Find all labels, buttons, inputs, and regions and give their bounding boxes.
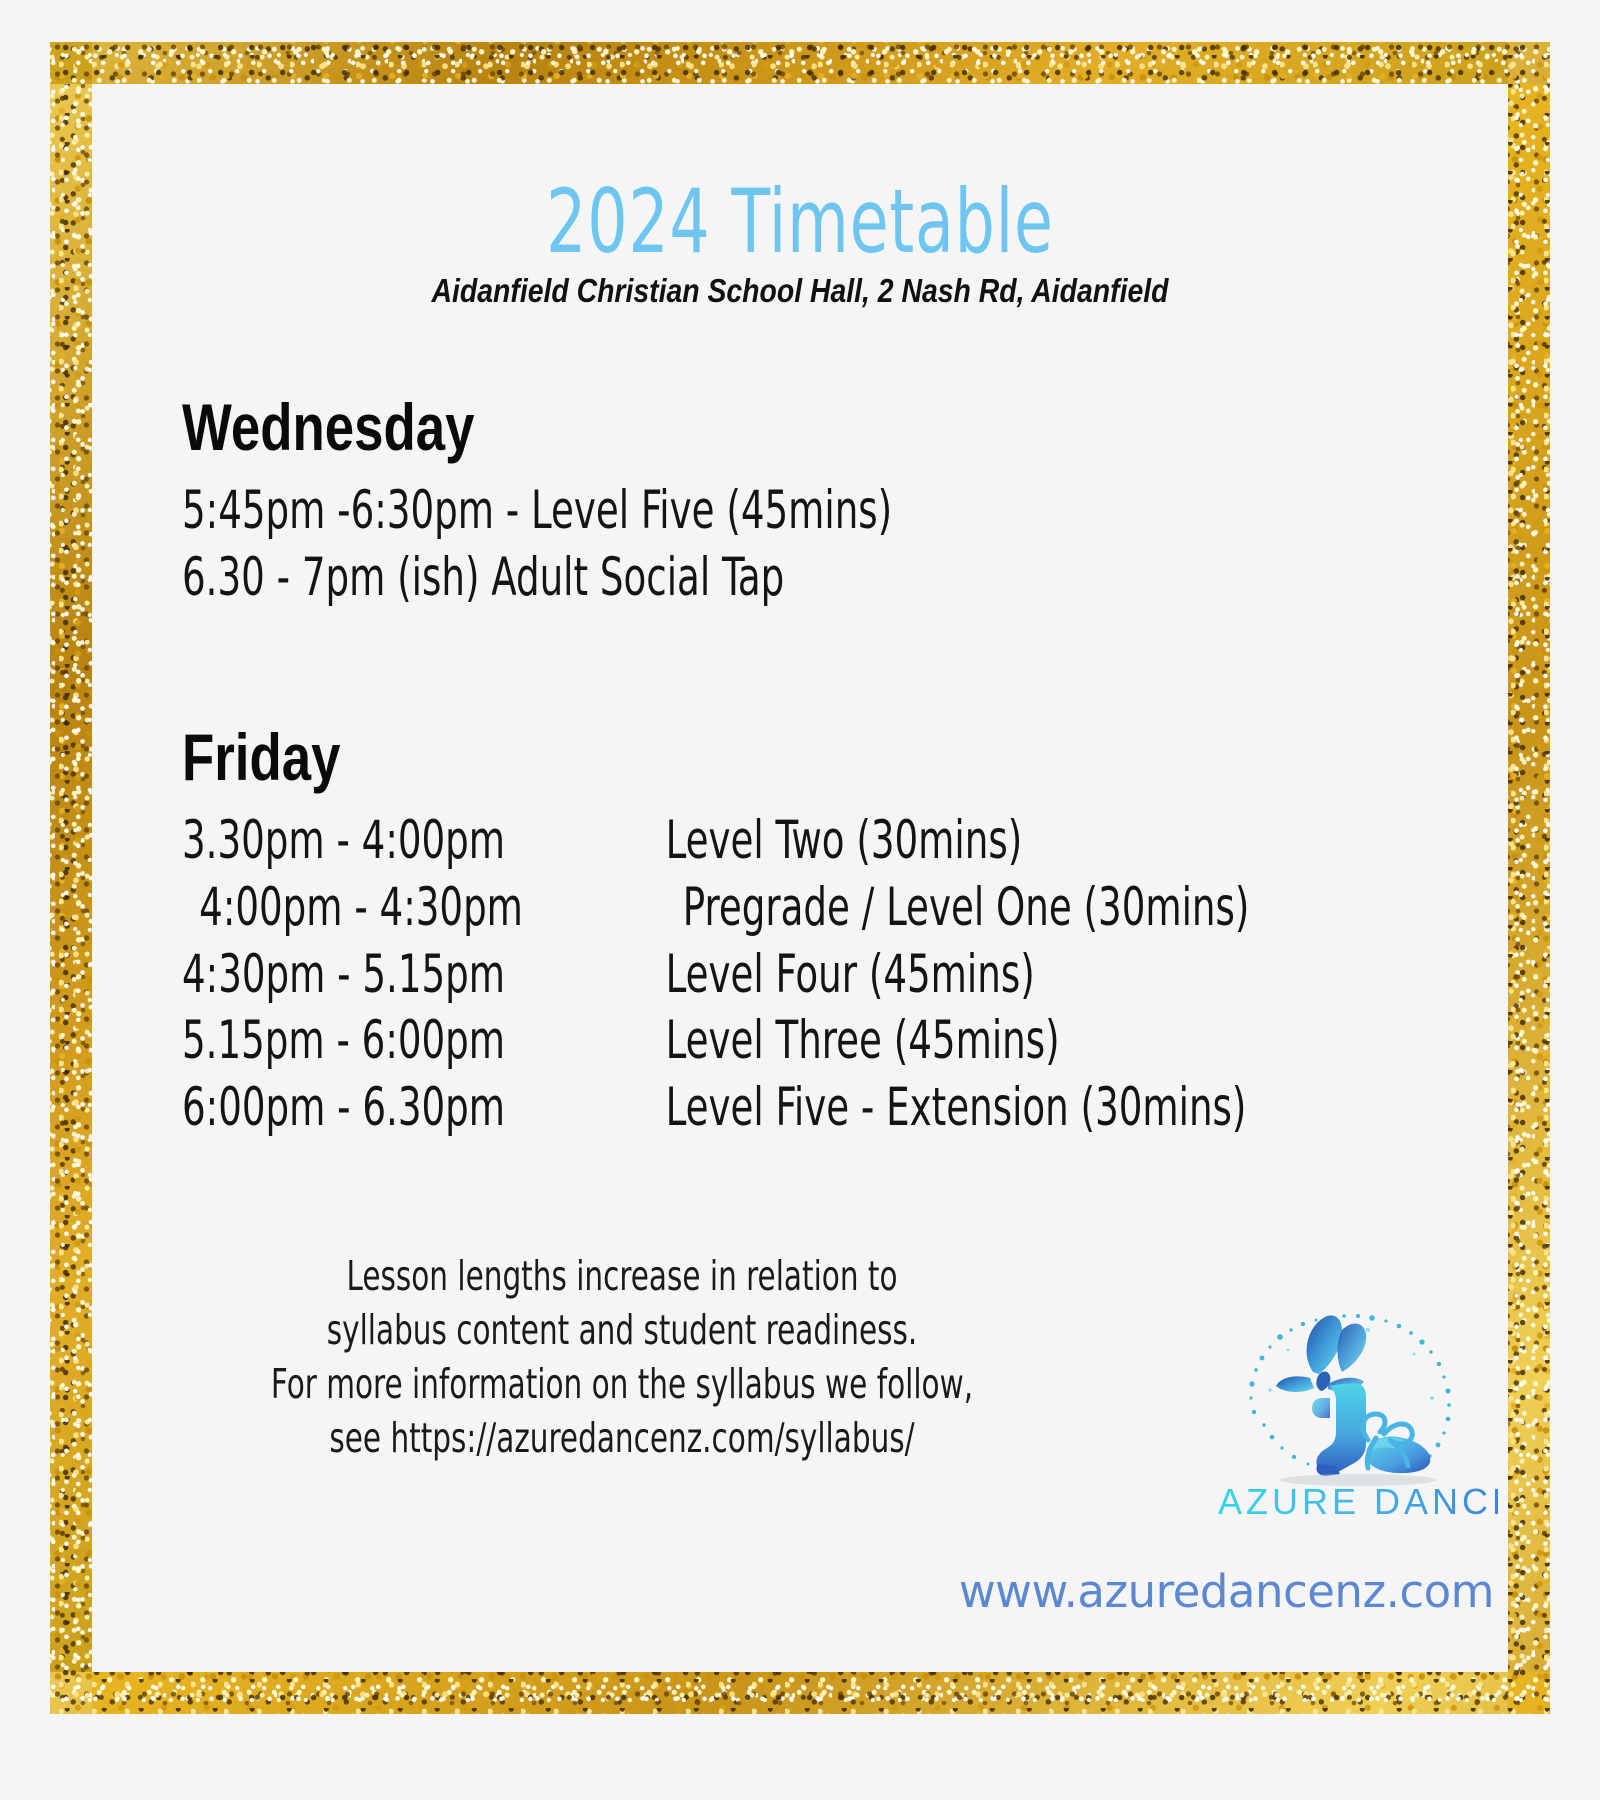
schedule-class: Level Four (45mins): [666, 944, 1035, 1005]
schedule-row: 6:00pm - 6.30pmLevel Five - Extension (3…: [182, 1075, 1196, 1142]
schedule-time: 5.15pm - 6:00pm: [182, 1008, 666, 1075]
schedule-class: Level Five - Extension (30mins): [666, 1077, 1247, 1138]
azure-dance-logo: AZURE DANCE: [1218, 1294, 1498, 1544]
schedule-row: 6.30 - 7pm (ish) Adult Social Tap: [182, 545, 1196, 612]
website-url[interactable]: www.azuredancenz.com: [959, 1569, 1494, 1614]
day-block-friday: Friday 3.30pm - 4:00pmLevel Two (30mins)…: [182, 724, 1482, 1142]
poster-content: 2024 Timetable Aidanfield Christian Scho…: [92, 84, 1508, 1672]
schedule-row: 3.30pm - 4:00pmLevel Two (30mins): [182, 808, 1196, 875]
timetable-poster: 2024 Timetable Aidanfield Christian Scho…: [0, 0, 1600, 1800]
day-heading-friday: Friday: [182, 724, 1222, 790]
schedule-row: 5.15pm - 6:00pmLevel Three (45mins): [182, 1008, 1196, 1075]
logo-wordmark: AZURE DANCE: [1218, 1484, 1498, 1520]
dance-shoes-butterfly-icon: [1218, 1294, 1498, 1494]
schedule-time: 4:00pm - 4:30pm: [182, 875, 683, 942]
schedule-time: 3.30pm - 4:00pm: [182, 808, 666, 875]
note-line: see https://azuredancenz.com/syllabus/: [198, 1411, 1046, 1465]
note-line: syllabus content and student readiness.: [198, 1303, 1046, 1357]
schedule-time: 6:00pm - 6.30pm: [182, 1075, 666, 1142]
venue-address: Aidanfield Christian School Hall, 2 Nash…: [191, 274, 1409, 307]
day-heading-wednesday: Wednesday: [182, 394, 1222, 460]
note-line: For more information on the syllabus we …: [198, 1357, 1046, 1411]
schedule-time: 4:30pm - 5.15pm: [182, 942, 666, 1009]
schedule-row: 5:45pm -6:30pm - Level Five (45mins): [182, 478, 1196, 545]
day-block-wednesday: Wednesday 5:45pm -6:30pm - Level Five (4…: [182, 394, 1482, 612]
schedule-class: Level Three (45mins): [666, 1010, 1060, 1071]
schedule-class: Level Two (30mins): [666, 810, 1023, 871]
schedule-entry-text: 5:45pm -6:30pm - Level Five (45mins): [182, 480, 892, 541]
notes-block: Lesson lengths increase in relation to s…: [92, 1249, 1152, 1465]
schedule-row: 4:30pm - 5.15pmLevel Four (45mins): [182, 942, 1196, 1009]
page-title: 2024 Timetable: [234, 178, 1367, 266]
schedule-class: Pregrade / Level One (30mins): [683, 877, 1250, 938]
schedule-entry-text: 6.30 - 7pm (ish) Adult Social Tap: [182, 547, 784, 608]
note-line: Lesson lengths increase in relation to: [198, 1249, 1046, 1303]
schedule-row: 4:00pm - 4:30pmPregrade / Level One (30m…: [182, 875, 1196, 942]
